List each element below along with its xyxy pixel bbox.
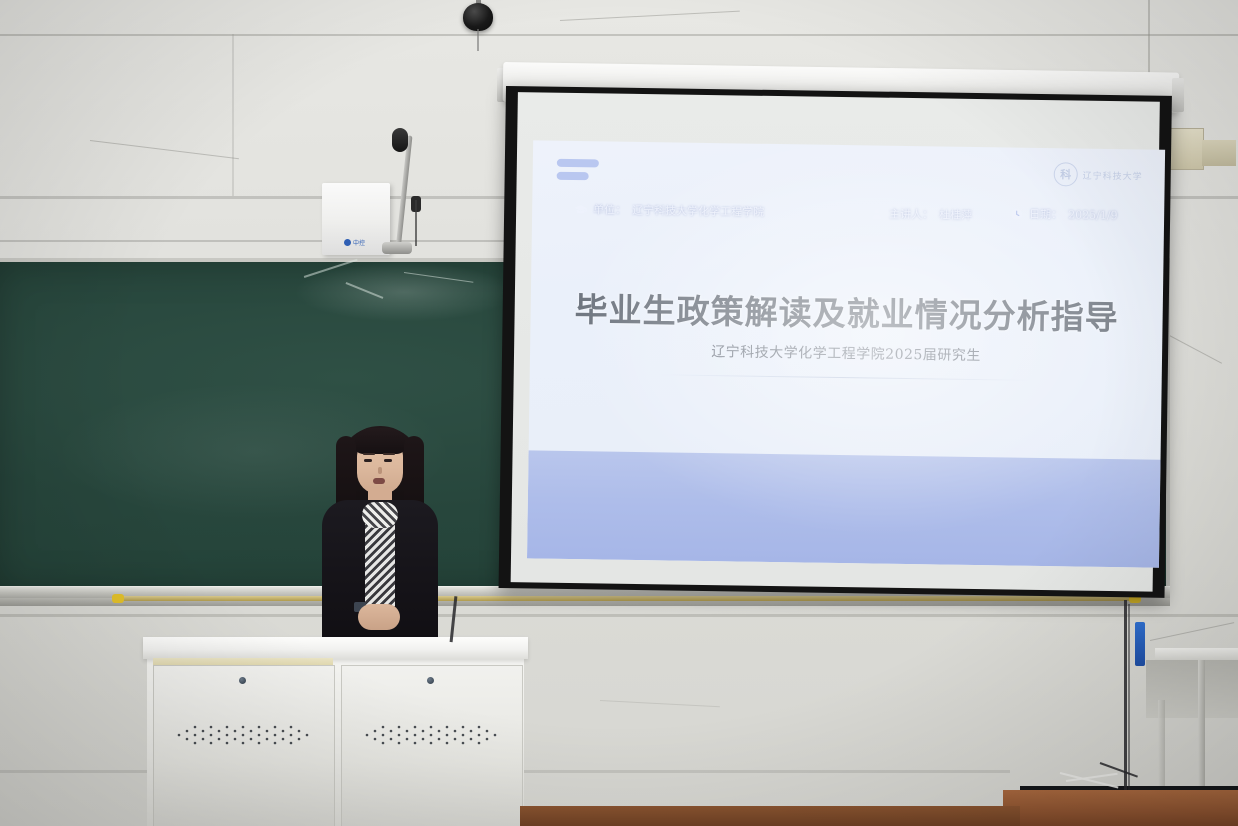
accent-bar-icon (557, 172, 589, 180)
lectern-tape-residue (153, 658, 333, 665)
university-seal-icon: 科 (1054, 162, 1078, 186)
presenter-hands (358, 604, 400, 630)
slide-accent-bars (557, 159, 599, 186)
side-table-leg (1198, 660, 1205, 800)
wall-baseboard-line (0, 614, 1238, 617)
presenter-eye (384, 459, 392, 462)
university-logo-label: 辽宁科技大学 (1083, 168, 1143, 182)
footer-label-organization: 单位： (593, 201, 626, 217)
wall-hanging-blue-item (1135, 622, 1145, 666)
accent-bar-icon (557, 159, 599, 168)
presenter-mouth (373, 478, 385, 484)
presenter-hair-front (354, 428, 406, 454)
lectern-door-left[interactable] (153, 665, 335, 826)
wooden-desk (1003, 790, 1238, 826)
lectern-knob-icon[interactable] (427, 677, 434, 684)
graduation-cap-icon (574, 203, 587, 216)
slide-subtitle: 辽宁科技大学化学工程学院2025届研究生 (530, 338, 1162, 367)
side-table-leg (1158, 700, 1165, 800)
screen-roller-cap (1172, 78, 1184, 112)
footer-value-date: 2025/1/9 (1068, 208, 1118, 222)
camera-cable (477, 29, 479, 51)
person-icon (870, 207, 883, 220)
footer-item-speaker: 主讲人： 杜桂萍 (870, 205, 972, 223)
ceiling-camera-icon (463, 3, 493, 31)
pointer-stick[interactable] (120, 596, 1135, 601)
university-logo: 科 辽宁科技大学 (1054, 162, 1143, 187)
footer-item-date: 日期： 2025/1/9 (1010, 205, 1118, 223)
lectern-knob-icon[interactable] (239, 677, 246, 684)
slide-divider (660, 374, 1032, 381)
microphone-cable (415, 200, 417, 246)
presenter-brow (363, 453, 375, 455)
presenter-scarf-knot (362, 502, 398, 528)
clock-icon (1010, 207, 1023, 220)
lectern-top (143, 637, 528, 659)
footer-value-speaker: 杜桂萍 (939, 206, 972, 222)
presenter-brow (383, 453, 395, 455)
presenter-eye (364, 459, 372, 462)
wall-panel-plate (1202, 140, 1236, 166)
presenter (310, 418, 450, 658)
lectern-vent-right (359, 722, 505, 748)
wall-cable (1128, 604, 1130, 790)
brand-mark-icon (344, 239, 351, 246)
pointer-cap (112, 594, 124, 603)
wall-cable (1124, 600, 1127, 790)
footer-value-organization: 辽宁科技大学化学工程学院 (632, 202, 764, 220)
lectern-vent-left (171, 722, 317, 748)
footer-label-speaker: 主讲人： (889, 206, 933, 223)
slide-title: 毕业生政策解读及就业情况分析指导 (530, 282, 1163, 339)
classroom-photo: 中控 screen 科 辽宁科技大学 毕业生政策解读及就业情况分析指导 辽宁科技… (0, 0, 1238, 826)
wall-seam (0, 240, 520, 242)
wooden-desk (520, 806, 1020, 826)
lectern-door-right[interactable] (341, 665, 523, 826)
projection-screen: 科 辽宁科技大学 毕业生政策解读及就业情况分析指导 辽宁科技大学化学工程学院20… (499, 86, 1172, 598)
projection-screen-surface: 科 辽宁科技大学 毕业生政策解读及就业情况分析指导 辽宁科技大学化学工程学院20… (511, 92, 1160, 591)
footer-label-date: 日期： (1029, 206, 1062, 222)
slide-footer-bar (527, 450, 1161, 567)
lectern (143, 637, 528, 826)
wall-seam (232, 34, 234, 196)
presenter-nose (378, 467, 382, 474)
microphone-base (382, 242, 412, 254)
control-box-logo: 中控 (344, 238, 365, 247)
wall-seam (0, 34, 1238, 36)
microphone-icon (392, 128, 408, 152)
control-box-brand-label: 中控 (353, 238, 365, 247)
footer-item-organization: 单位： 辽宁科技大学化学工程学院 (574, 201, 764, 220)
side-table-top (1155, 648, 1238, 660)
presentation-slide: 科 辽宁科技大学 毕业生政策解读及就业情况分析指导 辽宁科技大学化学工程学院20… (527, 140, 1165, 567)
